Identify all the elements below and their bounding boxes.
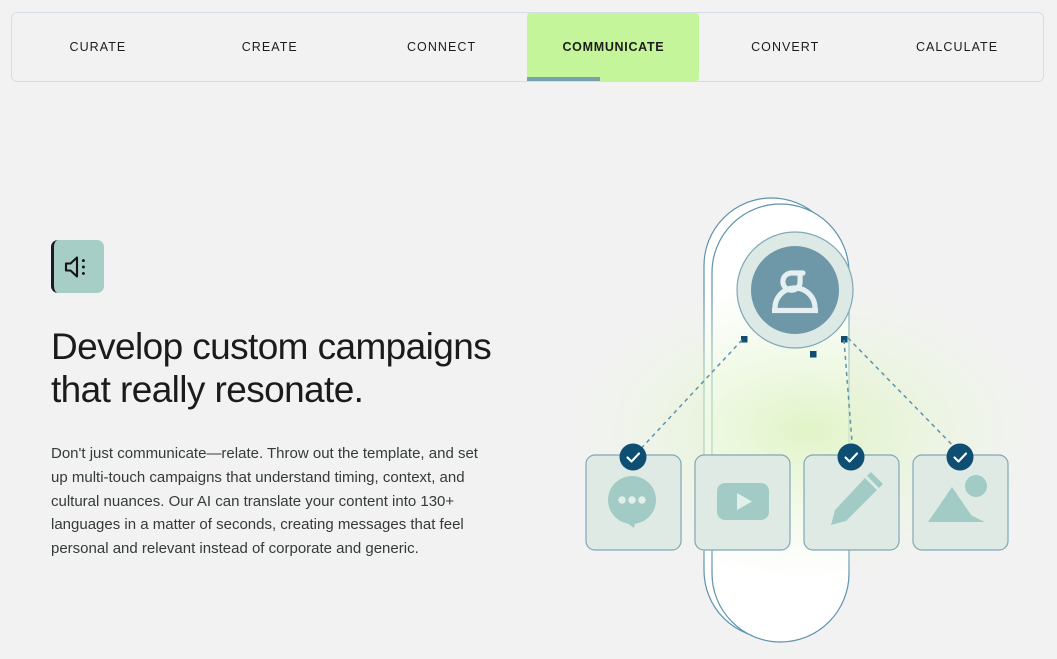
tab-curate[interactable]: CURATE [12, 13, 184, 81]
active-tab-underline [527, 77, 600, 81]
video-play-icon [717, 483, 769, 520]
tab-connect[interactable]: CONNECT [356, 13, 528, 81]
tab-label: CONVERT [751, 40, 819, 54]
tab-communicate[interactable]: COMMUNICATE [527, 13, 699, 81]
page-title: Develop custom campaigns that really res… [51, 326, 501, 411]
check-badge [947, 444, 974, 471]
diagram-canvas [560, 130, 1057, 659]
card-pencil[interactable] [804, 444, 899, 551]
communicate-diagram [560, 130, 1057, 659]
card-image[interactable] [913, 444, 1008, 551]
check-badge [620, 444, 647, 471]
connector-anchor-center [810, 351, 817, 358]
speaker-icon-badge [51, 240, 104, 293]
connector-anchor-left [741, 336, 748, 343]
tab-label: CONNECT [407, 40, 476, 54]
tab-bar: CURATE CREATE CONNECT COMMUNICATE CONVER… [11, 12, 1044, 82]
panel-description: Don't just communicate—relate. Throw out… [51, 442, 493, 561]
card-chat[interactable] [586, 444, 681, 551]
speaker-icon [64, 256, 94, 278]
tab-label: CURATE [70, 40, 127, 54]
tab-create[interactable]: CREATE [184, 13, 356, 81]
tab-calculate[interactable]: CALCULATE [871, 13, 1043, 81]
card-video[interactable] [695, 455, 790, 550]
tab-label: CREATE [242, 40, 298, 54]
tab-label: CALCULATE [916, 40, 998, 54]
content-panel: Develop custom campaigns that really res… [51, 240, 501, 561]
check-badge [838, 444, 865, 471]
tab-label: COMMUNICATE [562, 40, 664, 54]
tab-convert[interactable]: CONVERT [699, 13, 871, 81]
